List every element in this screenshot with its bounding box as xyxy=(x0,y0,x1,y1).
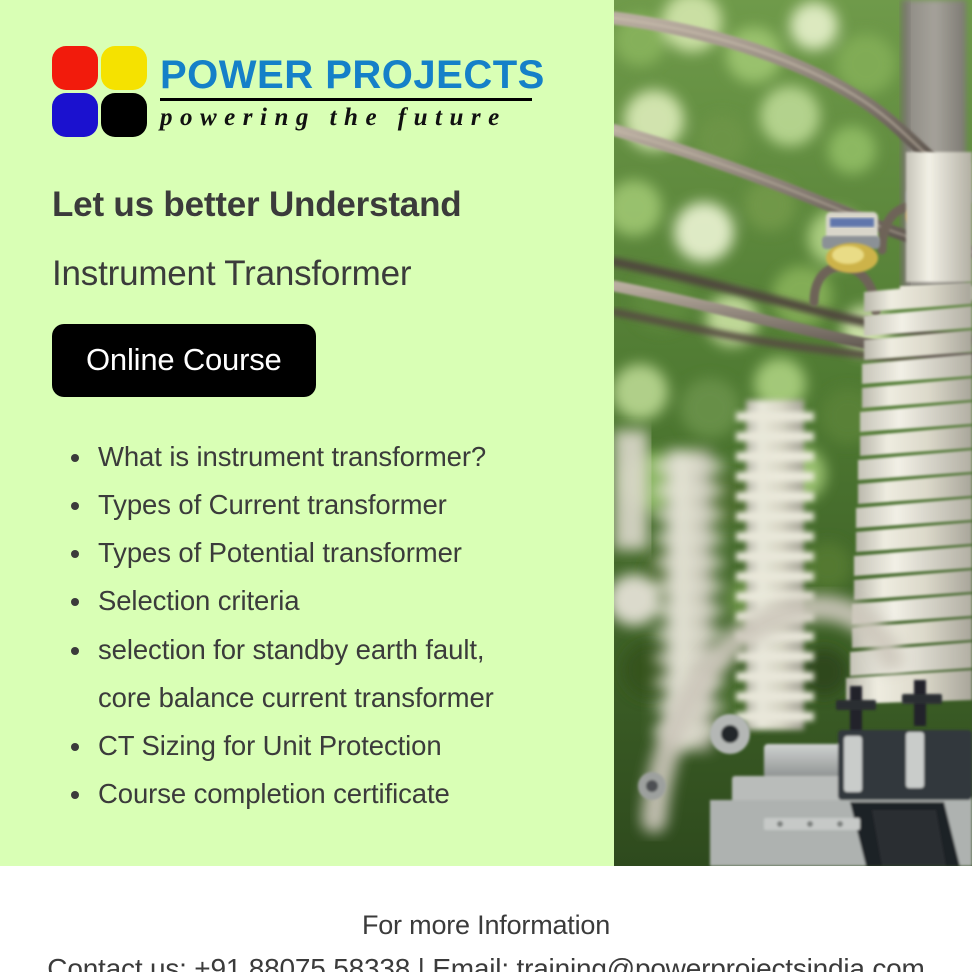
page-subtitle: Instrument Transformer xyxy=(52,255,590,294)
list-item: Selection criteria xyxy=(52,577,590,625)
list-item: What is instrument transformer? xyxy=(52,433,590,481)
brand-tagline: powering the future xyxy=(160,104,545,132)
logo-mark-black-icon xyxy=(101,93,147,137)
page-title: Let us better Understand xyxy=(52,186,590,225)
footer: For more Information Contact us: +91 880… xyxy=(0,866,972,972)
list-item: Types of Potential transformer xyxy=(52,529,590,577)
logo-mark-blue-icon xyxy=(52,93,98,137)
substation-photo-illustration xyxy=(614,0,972,866)
brand-logo: POWER PROJECTS powering the future xyxy=(52,46,590,150)
list-item: Types of Current transformer xyxy=(52,481,590,529)
footer-contact-line: Contact us: +91 88075 58338 | Email: tra… xyxy=(0,952,972,972)
list-item: selection for standby earth fault, core … xyxy=(52,626,552,722)
brand-name: POWER PROJECTS xyxy=(160,55,545,96)
footer-more-info-label: For more Information xyxy=(0,909,972,941)
logo-mark-red-icon xyxy=(52,46,98,90)
poster-root: POWER PROJECTS powering the future Let u… xyxy=(0,0,972,972)
list-item-line-2: core balance current transformer xyxy=(98,674,552,722)
course-topics-list: What is instrument transformer? Types of… xyxy=(52,433,590,818)
list-item-line-1: selection for standby earth fault, xyxy=(98,626,552,674)
logo-mark-yellow-icon xyxy=(101,46,147,90)
logo-wordmark: POWER PROJECTS powering the future xyxy=(160,46,545,132)
logo-color-marks xyxy=(52,46,147,138)
brand-divider-rule xyxy=(160,98,532,101)
substation-photo xyxy=(614,0,972,866)
online-course-button[interactable]: Online Course xyxy=(52,324,316,397)
list-item: Course completion certificate xyxy=(52,770,590,818)
list-item: CT Sizing for Unit Protection xyxy=(52,722,590,770)
content-column: POWER PROJECTS powering the future Let u… xyxy=(0,0,614,866)
